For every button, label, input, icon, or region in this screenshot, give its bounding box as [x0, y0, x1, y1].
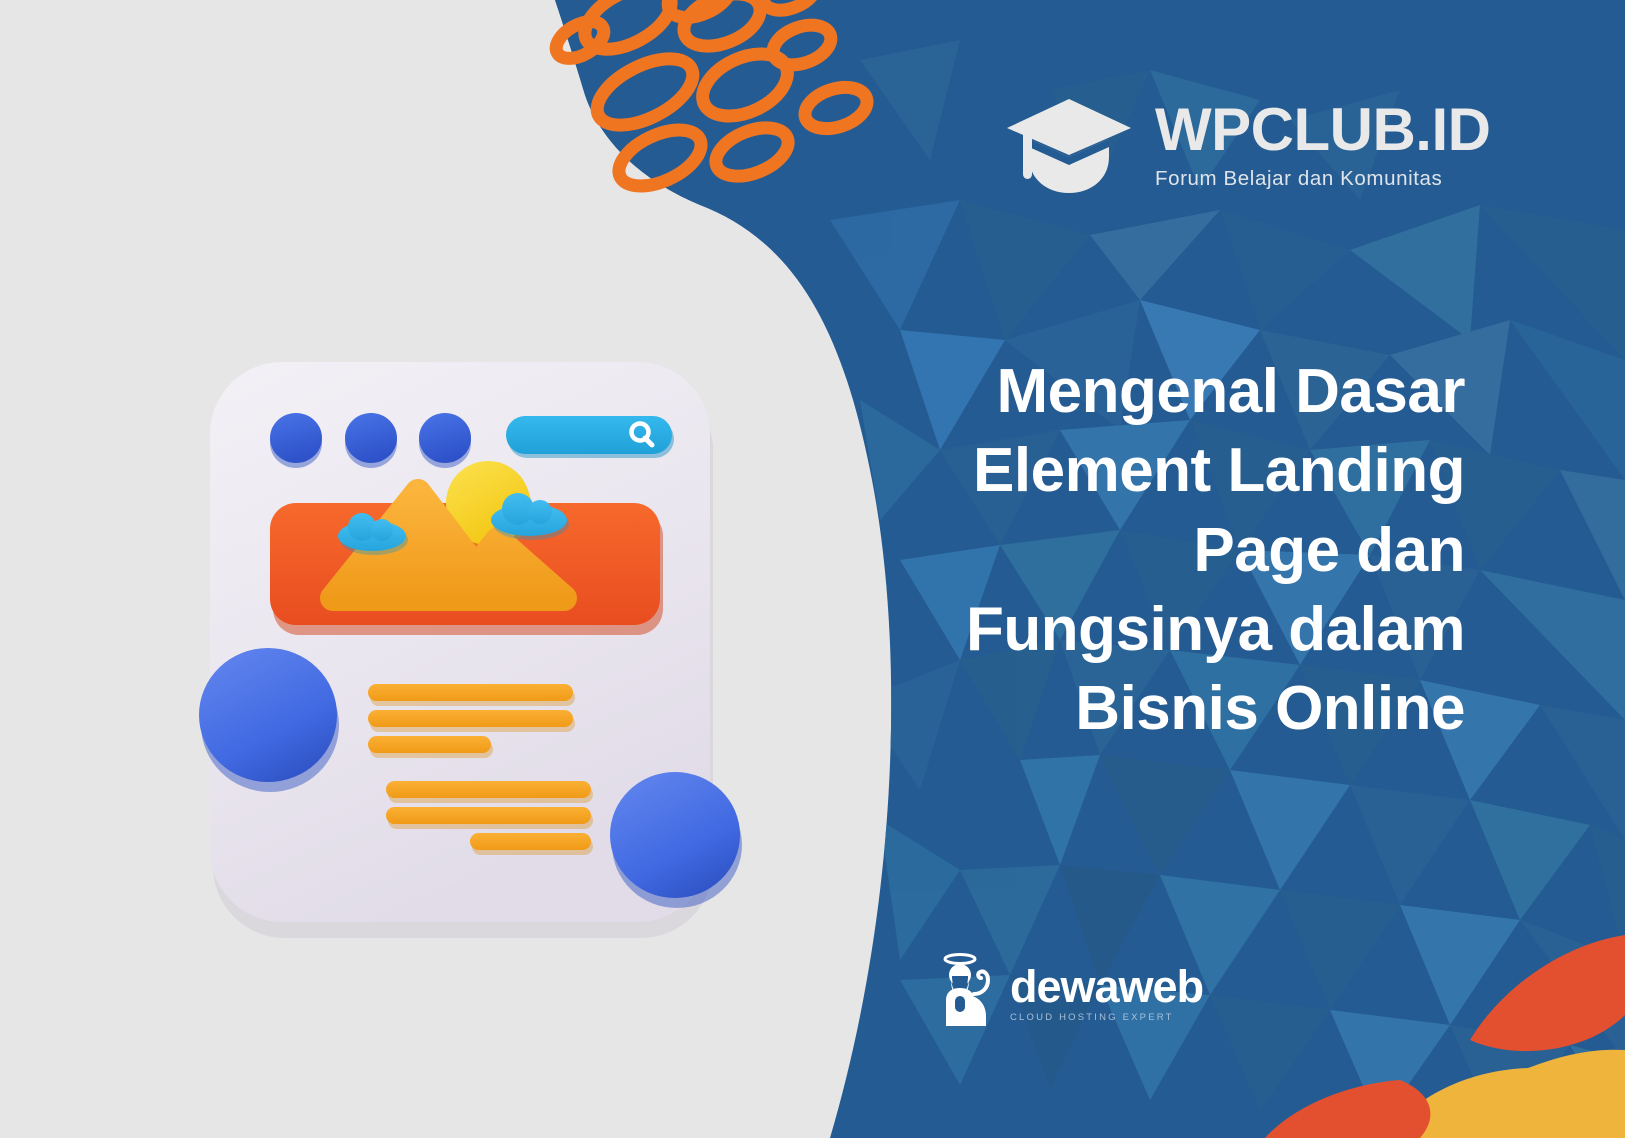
text-bar: [368, 736, 491, 753]
brand-name: WPCLUB.ID: [1155, 100, 1490, 160]
sphere-left: [199, 648, 339, 792]
sphere-right: [610, 772, 742, 908]
dot-2: [345, 413, 397, 463]
sponsor-tagline: CLOUD HOSTING EXPERT: [1010, 1012, 1174, 1023]
landing-page-3d-illustration: [188, 340, 748, 1010]
text-bar: [386, 807, 591, 824]
dewaweb-guru-icon: [938, 950, 1000, 1026]
dot-1: [270, 413, 322, 463]
search-bar[interactable]: [506, 416, 674, 458]
illustration-graphic: [188, 340, 748, 1010]
brand-logo: WPCLUB.ID Forum Belajar dan Komunitas: [1005, 95, 1490, 195]
text-bar: [386, 781, 591, 798]
sponsor-name: dewaweb: [1010, 966, 1203, 1009]
sponsor-logo: dewaweb CLOUD HOSTING EXPERT: [938, 950, 1203, 1026]
text-bar: [368, 684, 573, 701]
poster-canvas: WPCLUB.ID Forum Belajar dan Komunitas Me…: [0, 0, 1625, 1138]
browser-dots: [270, 413, 471, 468]
text-bar: [368, 710, 573, 727]
dot-3: [419, 413, 471, 463]
page-title: Mengenal Dasar Element Landing Page dan …: [945, 352, 1465, 749]
text-bar: [470, 833, 591, 850]
graduation-cap-icon: [1005, 95, 1133, 195]
brand-tagline: Forum Belajar dan Komunitas: [1155, 167, 1442, 191]
